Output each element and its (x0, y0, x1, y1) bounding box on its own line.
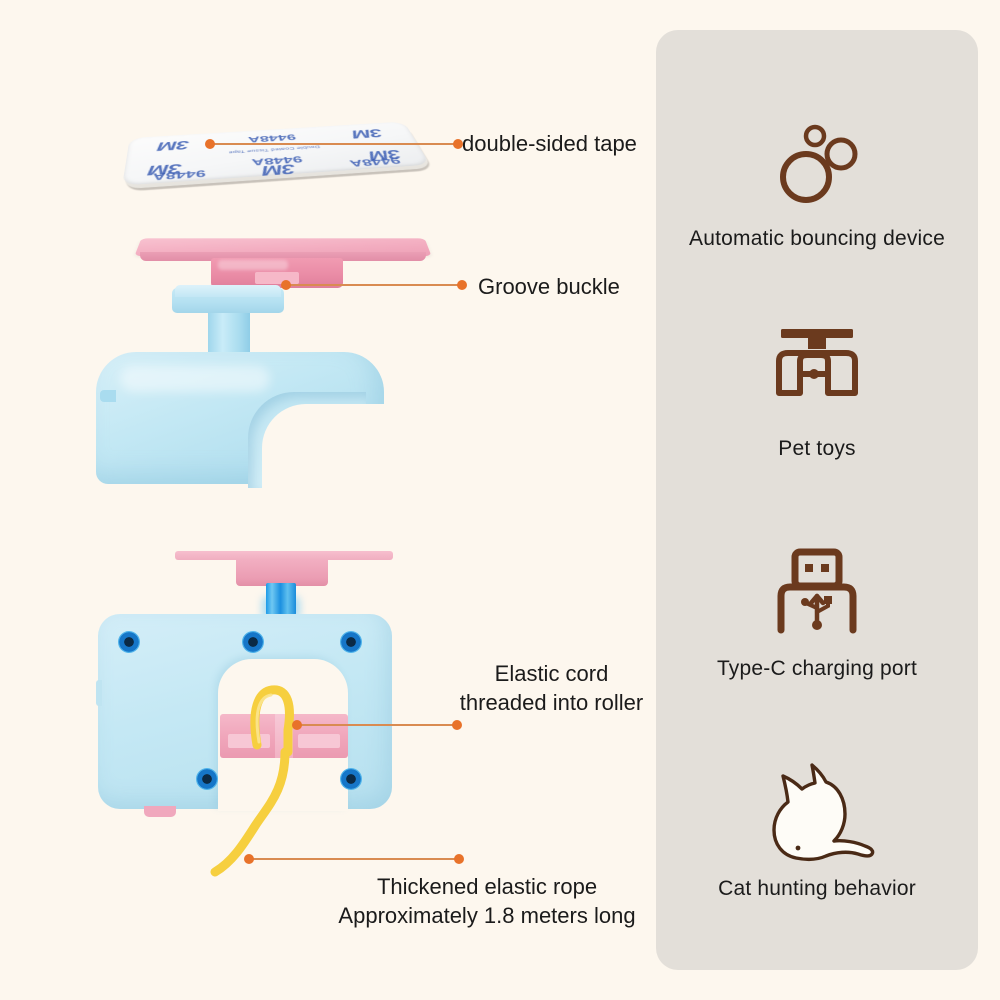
callout-leader-line (296, 724, 456, 726)
callout-label-groove-buckle: Groove buckle (478, 272, 620, 301)
callout-label-elastic-cord-roller: Elastic cord threaded into roller (444, 659, 659, 717)
bottom-pink-plate (175, 551, 393, 560)
screw-hole (340, 768, 362, 790)
callout-anchor-dot (205, 139, 215, 149)
feature-item-cat-hunting-behavior[interactable]: Cat hunting behavior (656, 758, 978, 901)
feature-label: Type-C charging port (656, 656, 978, 681)
device-body-highlight (120, 366, 270, 392)
feature-label: Pet toys (656, 436, 978, 461)
callout-label-double-sided-tape: double-sided tape (462, 129, 637, 158)
callout-line-2: threaded into roller (444, 688, 659, 717)
buckle-groove-notch (255, 272, 299, 284)
tape-brand-mark: 3M (148, 160, 182, 178)
buckle-highlight (218, 260, 288, 270)
callout-end-dot (457, 280, 467, 290)
double-sided-tape-part: 3M 9448A 3M 3M 9448A Double Coated Tissu… (121, 124, 439, 194)
callout-line-1: Elastic cord (444, 659, 659, 688)
feature-panel: Automatic bouncing device Pet toys (656, 30, 978, 970)
device-body-arch-opening (262, 404, 384, 488)
roller-center-divider (275, 714, 293, 758)
cat-silhouette-icon (656, 758, 978, 866)
screw-hole (242, 631, 264, 653)
callout-anchor-dot (292, 720, 302, 730)
feature-item-type-c-charging-port[interactable]: Type-C charging port (656, 538, 978, 681)
callout-anchor-dot (281, 280, 291, 290)
screw-hole (118, 631, 140, 653)
device-base-pink-tab (144, 806, 176, 817)
callout-end-dot (454, 854, 464, 864)
pet-toy-device-icon (656, 318, 978, 426)
device-body-side-nub (100, 390, 116, 402)
feature-label: Cat hunting behavior (656, 876, 978, 901)
screw-hole (196, 768, 218, 790)
device-base-side-port (96, 680, 102, 706)
callout-anchor-dot (244, 854, 254, 864)
callout-line-2: Approximately 1.8 meters long (312, 901, 662, 930)
usb-type-c-icon (656, 538, 978, 646)
feature-label: Automatic bouncing device (656, 226, 978, 251)
feature-item-pet-toys[interactable]: Pet toys (656, 318, 978, 461)
infographic-canvas: 3M 9448A 3M 3M 9448A Double Coated Tissu… (0, 0, 1000, 1000)
roller-slot (298, 734, 340, 748)
callout-line-1: Thickened elastic rope (312, 872, 662, 901)
callout-end-dot (452, 720, 462, 730)
roller-slot (228, 734, 270, 748)
callout-leader-line (210, 143, 458, 145)
feature-item-automatic-bouncing-device[interactable]: Automatic bouncing device (656, 108, 978, 251)
blue-clip (266, 583, 296, 615)
screw-hole (340, 631, 362, 653)
callout-leader-line (285, 284, 462, 286)
post-cap-top (175, 285, 281, 297)
bubbles-icon (656, 108, 978, 216)
callout-leader-line (249, 858, 459, 860)
callout-label-thickened-elastic-rope: Thickened elastic rope Approximately 1.8… (312, 872, 662, 930)
